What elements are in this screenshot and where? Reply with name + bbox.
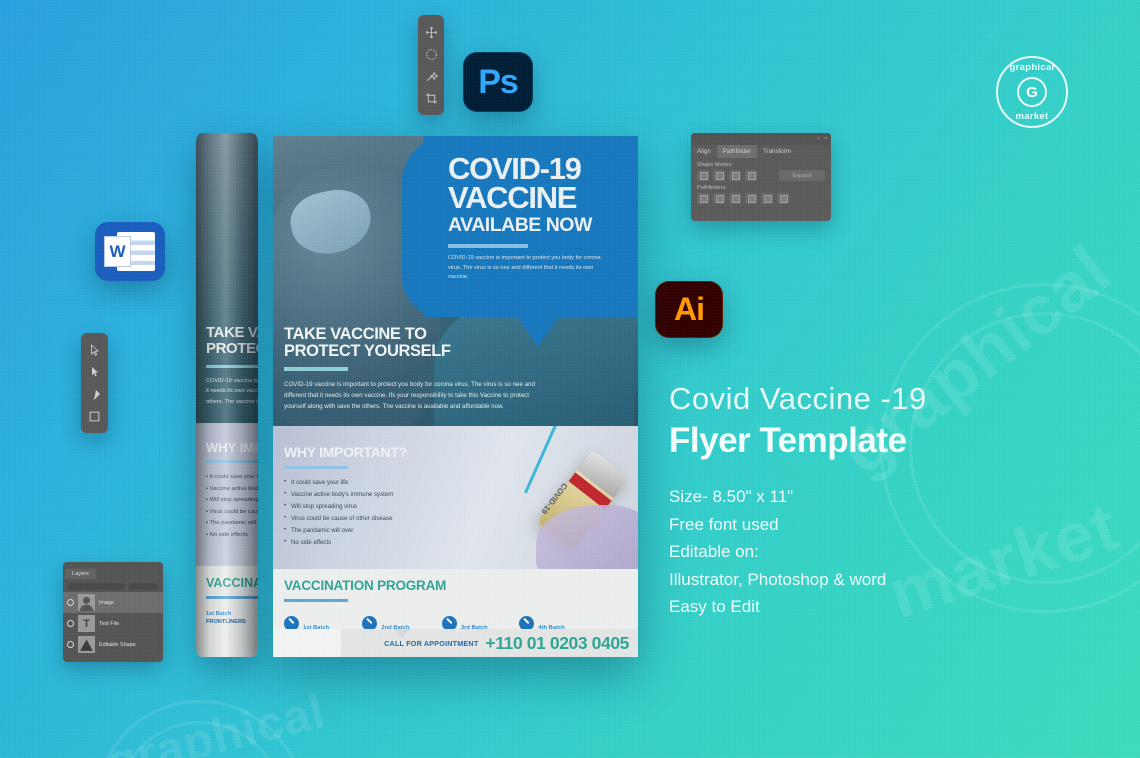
layer-thumbnail-text: T — [78, 615, 95, 632]
layers-opacity-bar[interactable] — [129, 583, 158, 590]
callbar-notch — [393, 629, 411, 638]
product-title: Covid Vaccine -19 — [669, 380, 1089, 419]
merge-icon[interactable] — [729, 193, 741, 204]
trim-icon[interactable] — [713, 193, 725, 204]
pen-tool-icon[interactable] — [89, 388, 101, 402]
why-important-list: It could save your life Vaccine active b… — [284, 477, 474, 548]
move-tool-icon[interactable] — [425, 26, 438, 39]
why-important-section: COVID-19 WHY IMPORTANT? It could save yo… — [273, 426, 638, 569]
layers-panel[interactable]: Layers Image T Text File Editable Shape — [63, 562, 163, 662]
roll-shading — [196, 133, 258, 657]
why-important-divider — [284, 466, 348, 469]
eye-icon[interactable] — [67, 620, 74, 627]
word-app-icon[interactable]: W — [95, 222, 165, 281]
layer-name-image: Image — [99, 600, 114, 606]
photoshop-toolbar[interactable] — [418, 15, 444, 115]
direct-selection-tool-icon[interactable] — [89, 365, 101, 379]
eye-icon[interactable] — [67, 599, 74, 606]
selection-tool-icon[interactable] — [89, 343, 101, 357]
layer-row-image[interactable]: Image — [63, 592, 163, 613]
tab-align[interactable]: Align — [691, 145, 717, 158]
crop-tool-icon[interactable] — [425, 92, 438, 105]
product-feature-list: Size- 8.50" x 11" Free font used Editabl… — [669, 483, 1089, 621]
expand-button[interactable]: Expand — [779, 170, 825, 181]
rectangle-tool-icon[interactable] — [88, 410, 101, 423]
illustrator-toolbar[interactable] — [81, 333, 108, 433]
syringe-needle — [524, 426, 557, 493]
brand-badge-top-text: graphical — [998, 62, 1066, 73]
tab-transform[interactable]: Transform — [757, 145, 797, 158]
elliptical-marquee-tool-icon[interactable] — [425, 48, 438, 61]
feature-item-font: Free font used — [669, 511, 1089, 539]
list-item: The pandamic will over — [284, 525, 474, 537]
close-icon[interactable]: × — [824, 136, 827, 142]
outline-icon[interactable] — [761, 193, 773, 204]
layer-thumbnail-shape — [78, 636, 95, 653]
take-vaccine-divider — [284, 367, 348, 370]
unite-icon[interactable] — [697, 170, 709, 181]
tab-pathfinder[interactable]: Pathfinder — [717, 145, 757, 158]
headline-bubble: COVID-19 VACCINE AVAILABE NOW COVID-19 v… — [424, 136, 638, 317]
brand-badge: graphical G market — [996, 56, 1068, 128]
call-number: +110 01 0203 0405 — [485, 633, 629, 654]
minus-back-icon[interactable] — [777, 193, 789, 204]
rolled-poster-mockup: TAKE VACCINE TOPROTECT YOURSELF COVID-19… — [196, 133, 258, 657]
feature-item-apps: Illustrator, Photoshop & word — [669, 566, 1089, 594]
brand-monogram: G — [1017, 77, 1047, 107]
bubble-body-text: COVID-19 vaccine is important to protect… — [448, 254, 608, 283]
layer-row-shape[interactable]: Editable Shape — [63, 634, 163, 655]
why-important-heading: WHY IMPORTANT? — [284, 444, 474, 460]
layers-filter-bar[interactable] — [68, 583, 125, 590]
bubble-line-2: VACCINE — [448, 183, 624, 212]
product-description: Covid Vaccine -19 Flyer Template Size- 8… — [669, 380, 1089, 621]
list-item: It could save your life — [284, 477, 474, 489]
pathfinders-label: Pathfinders: — [697, 185, 831, 191]
take-vaccine-heading: TAKE VACCINE TOPROTECT YOURSELF — [284, 326, 549, 360]
magic-wand-tool-icon[interactable] — [425, 70, 438, 83]
bubble-line-3: AVAILABE NOW — [448, 214, 624, 237]
call-label: CALL FOR APPOINTMENT — [384, 639, 478, 648]
feature-item-editable-on: Editable on: — [669, 538, 1089, 566]
product-subtitle: Flyer Template — [669, 421, 1089, 461]
intersect-icon[interactable] — [729, 170, 741, 181]
bubble-left-curve — [402, 136, 448, 317]
list-item: Will stop spreading virus — [284, 501, 474, 513]
pathfinder-titlebar[interactable]: « × — [691, 133, 831, 145]
list-item: No side effects — [284, 537, 474, 549]
shape-modes-row[interactable]: Expand — [691, 170, 831, 181]
pathfinders-row[interactable] — [691, 193, 831, 204]
shape-modes-label: Shape Modes: — [697, 162, 831, 168]
pathfinder-panel[interactable]: « × Align Pathfinder Transform Shape Mod… — [691, 133, 831, 221]
vaccination-program-divider — [284, 599, 348, 602]
call-for-appointment-bar: CALL FOR APPOINTMENT +110 01 0203 0405 — [341, 629, 638, 657]
minus-front-icon[interactable] — [713, 170, 725, 181]
tab-layers[interactable]: Layers — [65, 569, 96, 579]
divide-icon[interactable] — [697, 193, 709, 204]
bubble-line-1: COVID-19 — [448, 154, 624, 183]
feature-item-size: Size- 8.50" x 11" — [669, 483, 1089, 511]
layer-row-text[interactable]: T Text File — [63, 613, 163, 634]
list-item: Vaccine active body's immune system — [284, 489, 474, 501]
exclude-icon[interactable] — [745, 170, 757, 181]
feature-item-easy-edit: Easy to Edit — [669, 593, 1089, 621]
take-vaccine-body: COVID-19 vaccine is important to protect… — [284, 379, 549, 413]
crop-icon[interactable] — [745, 193, 757, 204]
photoshop-app-icon[interactable]: Ps — [463, 52, 533, 112]
word-letter: W — [104, 236, 131, 267]
vaccination-program-heading: VACCINATION PROGRAM — [284, 578, 446, 593]
eye-icon[interactable] — [67, 641, 74, 648]
pathfinder-tabs[interactable]: Align Pathfinder Transform — [691, 145, 831, 158]
bubble-divider — [448, 244, 528, 248]
flyer-preview: COVID-19 VACCINE AVAILABE NOW COVID-19 v… — [273, 136, 638, 657]
take-vaccine-block: TAKE VACCINE TOPROTECT YOURSELF COVID-19… — [284, 326, 549, 412]
layer-name-text: Text File — [99, 621, 119, 627]
layer-thumbnail-image — [78, 594, 95, 611]
brand-badge-bottom-text: market — [998, 111, 1066, 122]
list-item: Virus could be cause of other disease — [284, 513, 474, 525]
layers-toolbar[interactable] — [63, 580, 163, 592]
flyer-bottom-band — [273, 629, 341, 657]
illustrator-app-icon[interactable]: Ai — [655, 281, 723, 338]
collapse-icon[interactable]: « — [817, 136, 820, 142]
layer-name-shape: Editable Shape — [99, 642, 136, 648]
